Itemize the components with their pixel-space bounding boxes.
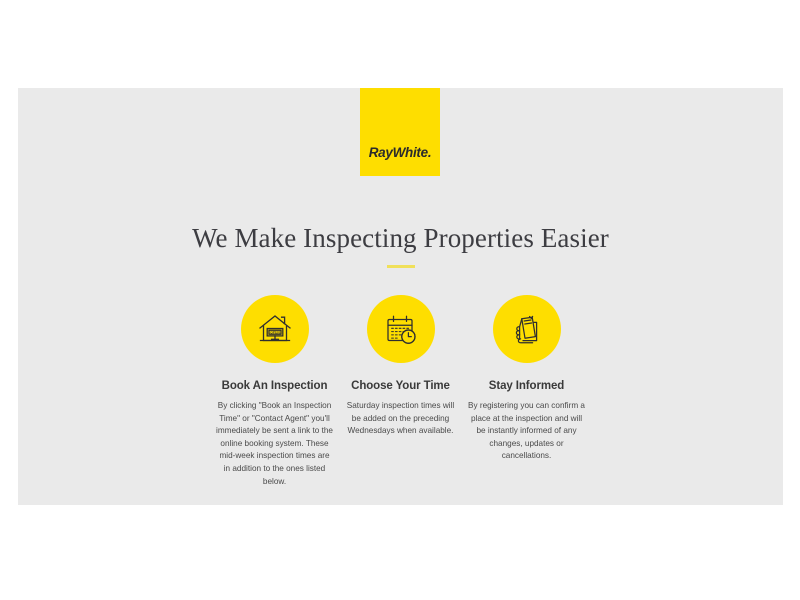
feature-body: Saturday inspection times will be added … [342,400,460,438]
hand-holding-phone-icon [493,295,561,363]
feature-column-stay-informed: Stay Informed By registering you can con… [464,295,590,463]
feature-column-book-an-inspection: OPEN Book An Inspection By clicking "Boo… [212,295,338,488]
feature-title: Stay Informed [489,380,564,392]
heading-divider [387,265,415,268]
page-root: RayWhite. We Make Inspecting Properties … [0,0,800,600]
content-panel: RayWhite. We Make Inspecting Properties … [18,88,783,505]
feature-body: By clicking "Book an Inspection Time" or… [216,400,334,488]
feature-column-choose-your-time: Choose Your Time Saturday inspection tim… [338,295,464,438]
feature-body: By registering you can confirm a place a… [468,400,586,463]
svg-text:OPEN: OPEN [270,329,280,334]
raywhite-logo-text: RayWhite. [360,145,440,160]
feature-title: Book An Inspection [222,380,328,392]
calendar-clock-icon [367,295,435,363]
feature-title: Choose Your Time [351,380,450,392]
raywhite-logo[interactable]: RayWhite. [360,88,440,176]
page-title: We Make Inspecting Properties Easier [18,223,783,254]
house-open-sign-icon: OPEN [241,295,309,363]
feature-columns: OPEN Book An Inspection By clicking "Boo… [18,295,783,488]
